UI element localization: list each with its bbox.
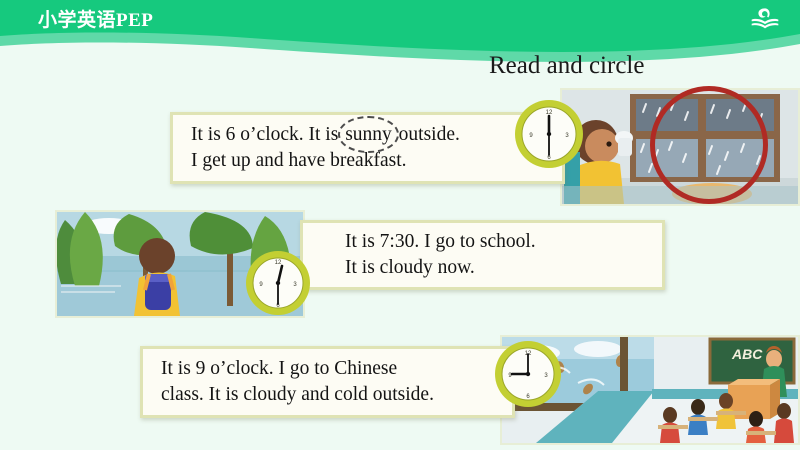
row-2-line-1: It is 7:30. I go to school. [303, 229, 662, 255]
row-2-line-2: It is cloudy now. [303, 255, 662, 281]
svg-text:12: 12 [275, 260, 282, 266]
clock-7-30-icon: 123 69 [243, 248, 313, 318]
clock-6-oclock-icon: 123 69 [512, 97, 586, 171]
row-1-line-1-before: It is 6 o’clock. It is [191, 124, 343, 145]
red-circle-annotation-row-1 [650, 86, 768, 204]
circled-word-sunny[interactable]: sunny [343, 122, 394, 148]
clock-9-oclock-icon: 123 69 [492, 338, 564, 410]
row-3-line-1: It is 9 o’clock. I go to Chinese [143, 356, 512, 382]
page-title: Read and circle [489, 52, 644, 80]
header-title: 小学英语PEP [38, 5, 153, 32]
row-3-textbox: It is 9 o’clock. I go to Chinese class. … [140, 346, 515, 418]
open-book-logo-icon [748, 5, 782, 35]
row-1-textbox: It is 6 o’clock. It is sunny outside. I … [170, 112, 565, 184]
row-1-line-1: It is 6 o’clock. It is sunny outside. [173, 122, 562, 148]
row-1-line-2: I get up and have breakfast. [173, 148, 562, 174]
row-3-line-2: class. It is cloudy and cold outside. [143, 382, 512, 408]
slide-root: 小学英语PEP Read and circle [0, 0, 800, 450]
row-1-line-1-after: outside. [394, 124, 460, 145]
row-2-textbox: It is 7:30. I go to school. It is cloudy… [300, 220, 665, 290]
blackboard-text: ABC [731, 346, 763, 362]
